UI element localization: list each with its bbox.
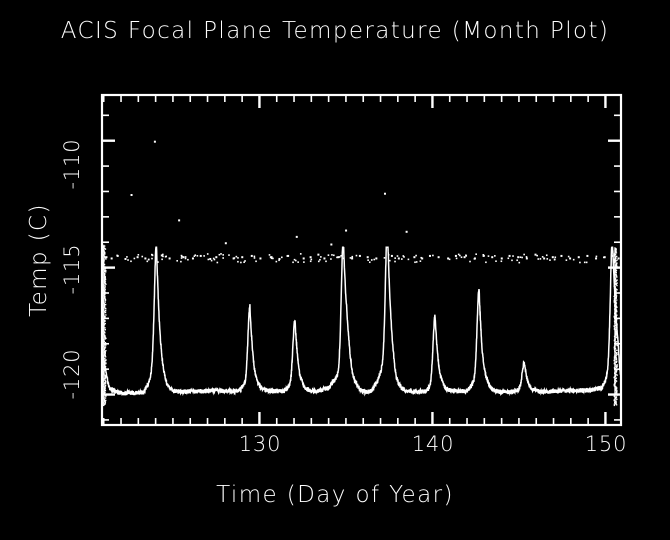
y-tick-label-minus110: -110 — [60, 124, 84, 204]
x-tick-label-130: 130 — [239, 432, 281, 456]
plot-page: ACIS Focal Plane Temperature (Month Plot… — [0, 0, 670, 540]
x-tick-label-150: 150 — [585, 432, 627, 456]
axis-ticks — [102, 95, 621, 425]
axis-frame — [102, 95, 621, 425]
x-axis-title: Time (Day of Year) — [0, 482, 670, 508]
y-tick-label-minus120: -120 — [60, 334, 84, 414]
scatter-outliers — [105, 141, 619, 264]
data-trace — [102, 245, 621, 406]
y-axis-title: Temp (C) — [26, 90, 52, 430]
y-tick-label-minus115: -115 — [60, 229, 84, 309]
x-tick-label-140: 140 — [412, 432, 454, 456]
plot-canvas — [0, 0, 670, 540]
